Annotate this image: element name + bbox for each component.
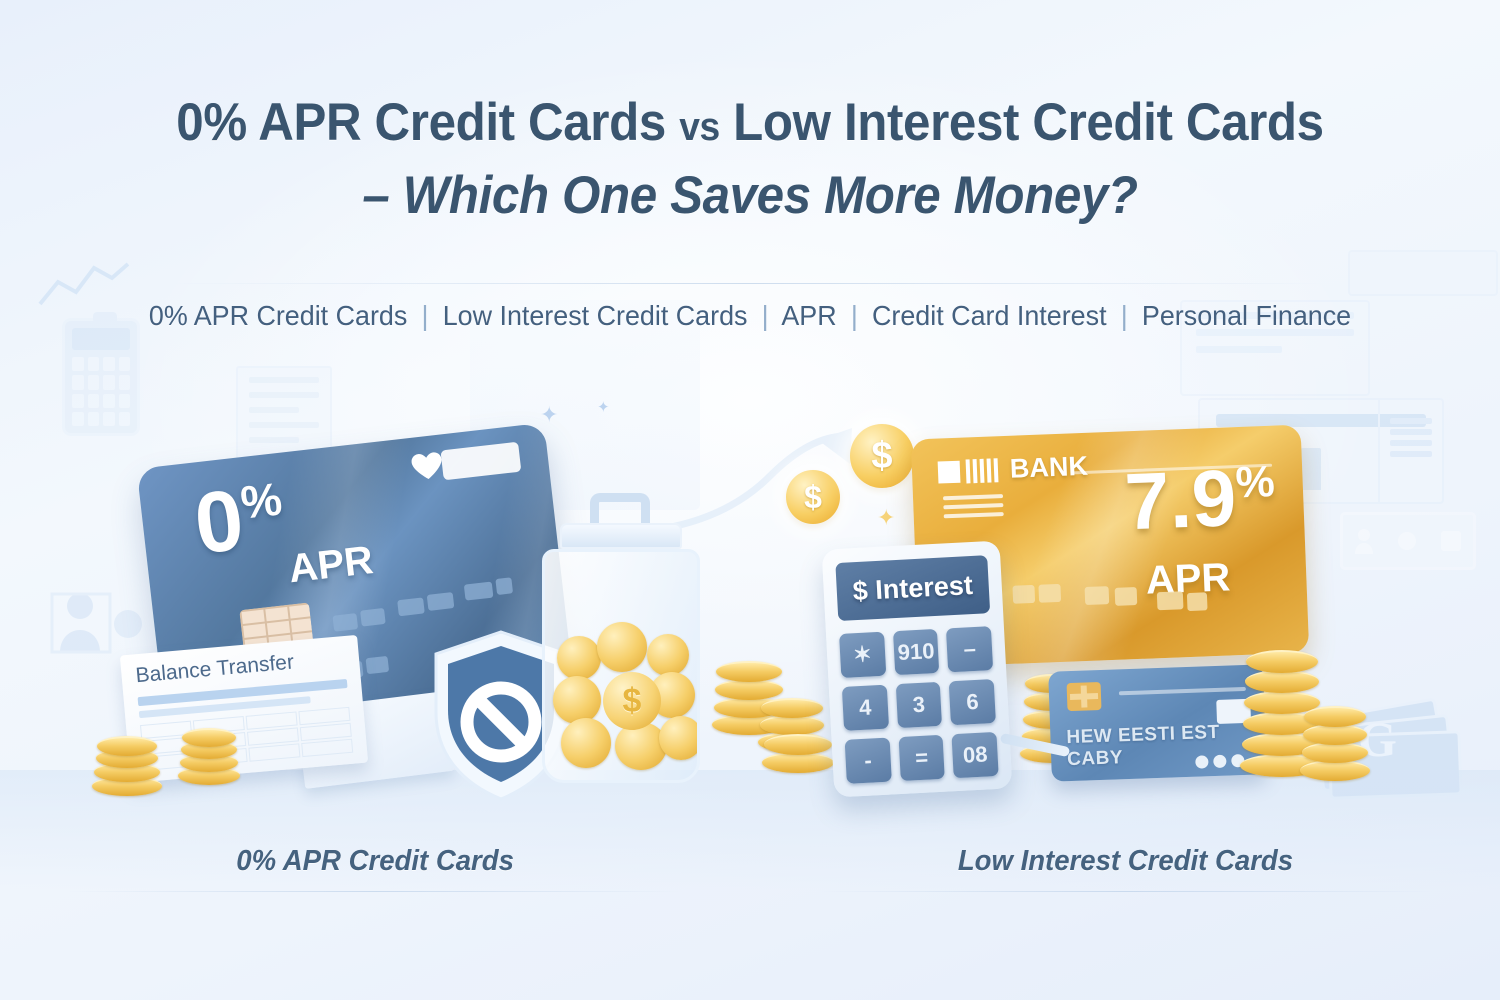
hero-graphic: G 0% APR Credit Cards vs Low Interest Cr… <box>0 0 1500 1000</box>
coin-jar: $ <box>538 523 704 783</box>
caption-left-text: 0% APR Credit Cards <box>236 845 514 878</box>
calc-key-5[interactable]: 6 <box>949 679 996 725</box>
zero-apr-label: APR <box>286 538 375 592</box>
calc-key-4[interactable]: 3 <box>895 682 942 728</box>
zero-apr-rate: 0% <box>191 475 288 566</box>
caption-left-divider <box>68 891 683 892</box>
caption-right-divider <box>818 891 1433 892</box>
calculator-display: $ Interest <box>835 555 990 621</box>
caption-left: 0% APR Credit Cards <box>0 845 750 892</box>
coin-stack-right-3 <box>1300 694 1370 782</box>
comparison-captions: 0% APR Credit Cards Low Interest Credit … <box>0 845 1500 892</box>
calc-key-8[interactable]: 08 <box>952 732 999 778</box>
calc-key-2[interactable]: – <box>946 626 993 672</box>
calculator-keypad: ✶ 910 – 4 3 6 - = 08 <box>839 626 999 784</box>
dollar-coin-symbol: $ <box>603 672 661 730</box>
calc-key-0[interactable]: ✶ <box>839 632 886 678</box>
floating-dollar-coin-1: $ <box>786 470 840 524</box>
coin-stack-center-3 <box>762 728 834 774</box>
sparkle-icon-2: ✦ <box>540 402 558 428</box>
calc-key-3[interactable]: 4 <box>842 685 889 731</box>
caption-right: Low Interest Credit Cards <box>750 845 1500 892</box>
heart-icon <box>408 448 445 484</box>
calc-key-1[interactable]: 910 <box>893 629 940 675</box>
calc-key-7[interactable]: = <box>898 735 945 781</box>
calc-key-6[interactable]: - <box>845 738 892 784</box>
low-interest-small-card: HEW EESTI EST CABY <box>1048 664 1267 781</box>
bank-logo: BANK <box>937 451 1088 488</box>
low-interest-rate: 7.9% <box>1124 460 1277 539</box>
interest-calculator: $ Interest ✶ 910 – 4 3 6 - = 08 <box>822 541 1013 798</box>
bank-label: BANK <box>1009 451 1088 485</box>
sparkle-icon-3: ✦ <box>597 398 610 416</box>
coin-stack-left-2 <box>178 728 240 786</box>
caption-right-text: Low Interest Credit Cards <box>957 845 1292 878</box>
floating-dollar-coin-2: $ <box>850 424 914 488</box>
sparkle-icon-1: ✦ <box>877 505 895 531</box>
coin-stack-left-1 <box>92 736 162 796</box>
